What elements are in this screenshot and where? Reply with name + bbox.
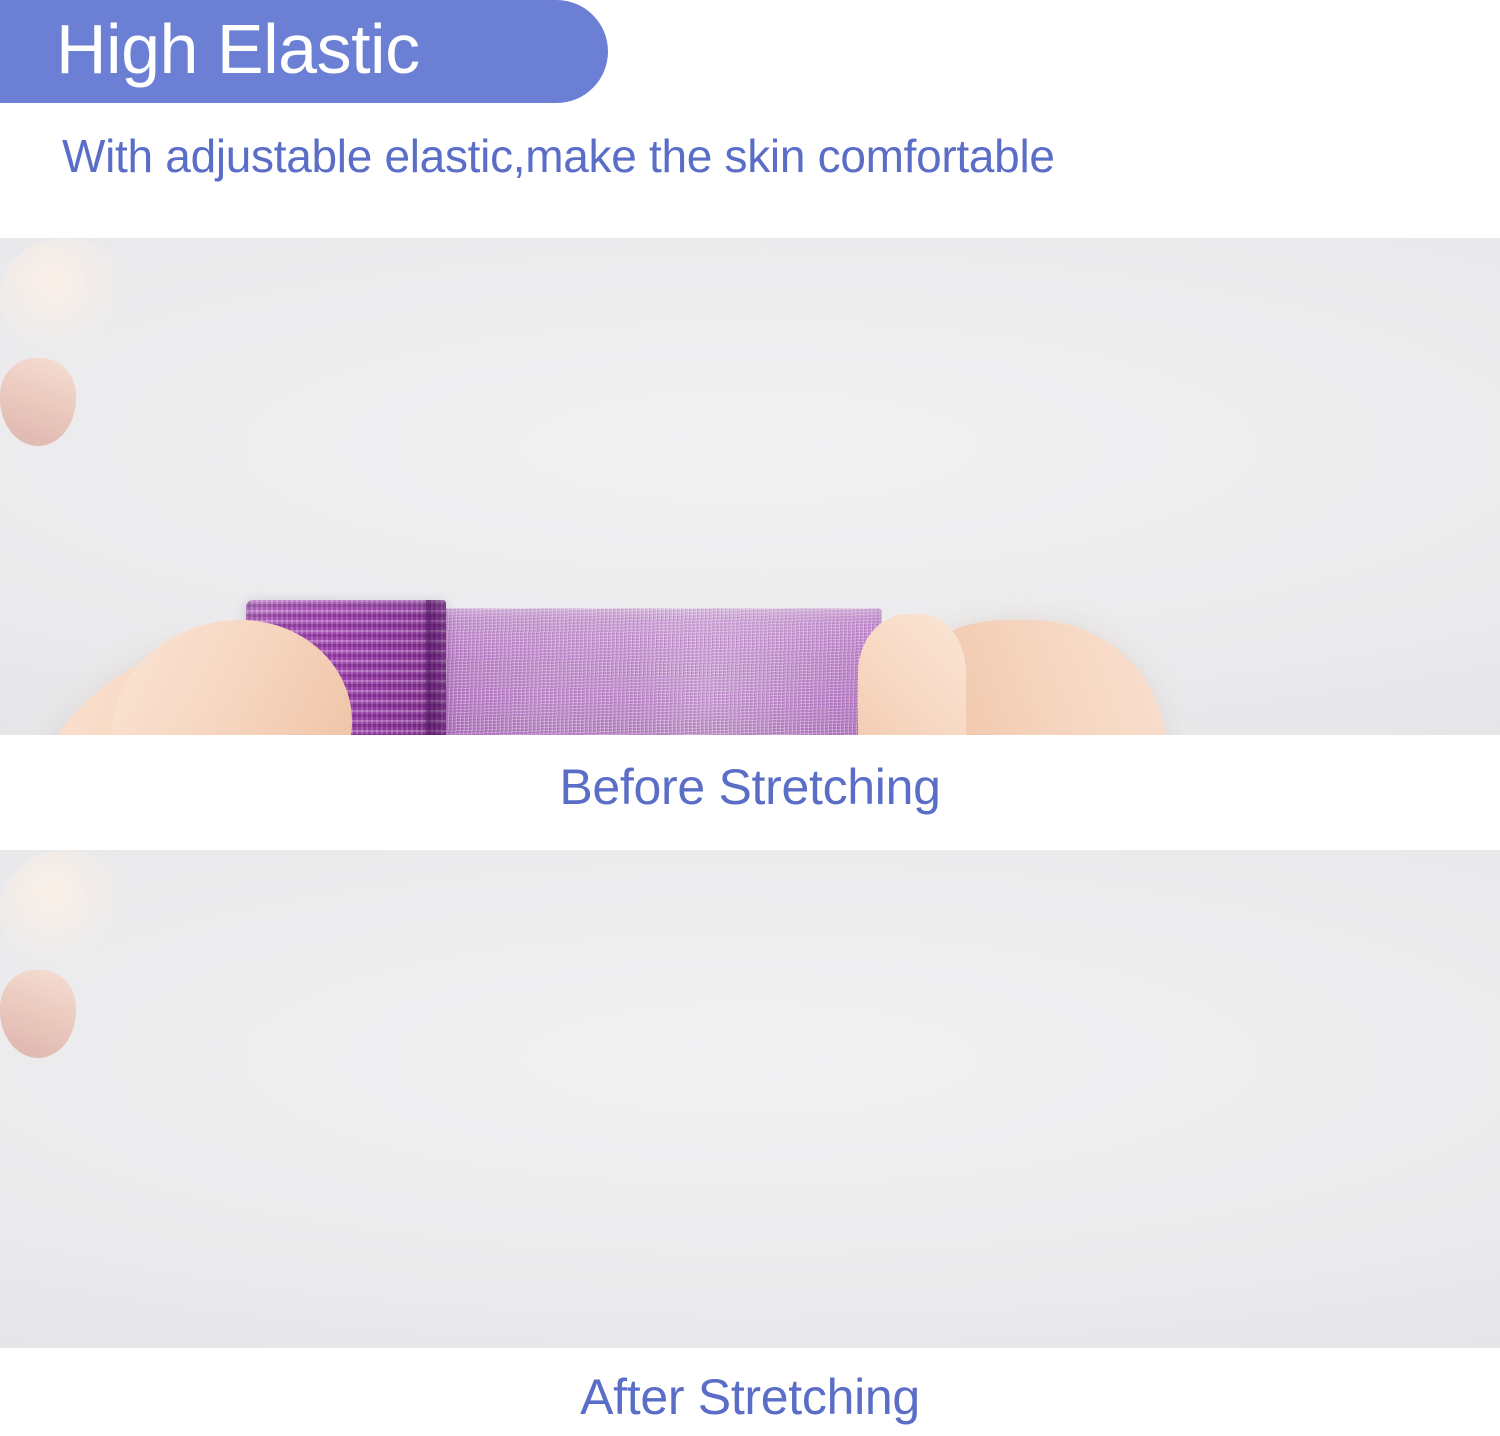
caption-after: After Stretching — [0, 1368, 1500, 1426]
subtitle-text: With adjustable elastic,make the skin co… — [62, 128, 1055, 186]
header-section: High Elastic With adjustable elastic,mak… — [0, 0, 1500, 238]
bandage-roll-edge — [426, 600, 446, 735]
right-hand-knuckles — [0, 850, 130, 970]
right-hand-knuckles — [0, 238, 130, 358]
product-infographic: High Elastic With adjustable elastic,mak… — [0, 0, 1500, 1436]
right-hand-thumbnail — [0, 358, 76, 446]
page-title: High Elastic — [56, 14, 420, 84]
photo-panel-after — [0, 850, 1500, 1348]
title-badge: High Elastic — [0, 0, 608, 103]
right-hand-thumbnail — [0, 970, 76, 1058]
bandage-strip-unstretched — [431, 608, 882, 735]
photo-panel-before — [0, 238, 1500, 735]
right-hand-thumb — [858, 614, 966, 735]
caption-before: Before Stretching — [0, 758, 1500, 816]
